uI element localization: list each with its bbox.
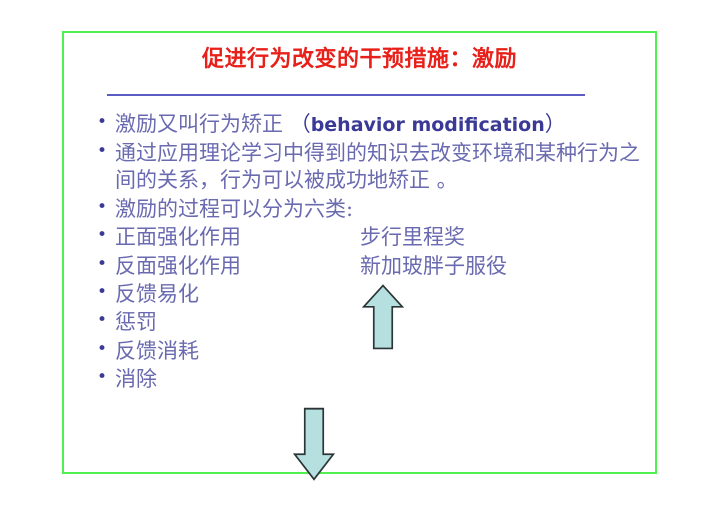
bullet-text-explanation: 通过应用理论学习中得到的知识去改变环境和某种行为之间的关系，行为可以被成功地矫正… [115, 140, 645, 195]
bullet-dot-icon [97, 111, 115, 122]
list-item: 激励的过程可以分为六类: [97, 196, 645, 223]
bullet-dot-icon [97, 196, 115, 207]
bullet-content: 消除 [115, 366, 645, 393]
list-item: 反面强化作用 新加玻胖子服役 [97, 253, 645, 280]
paren-open: （ [290, 112, 311, 136]
list-item: 激励又叫行为矫正 （behavior modification） [97, 111, 645, 139]
bullet-content: 反面强化作用 新加玻胖子服役 [115, 253, 645, 280]
down-arrow-shape [293, 406, 335, 482]
bullet-dot-icon [97, 281, 115, 292]
slide-frame: 促进行为改变的干预措施：激励 激励又叫行为矫正 （behavior modifi… [62, 31, 657, 474]
bullet-content: 激励又叫行为矫正 （behavior modification） [115, 111, 645, 139]
up-arrow-icon [362, 283, 404, 351]
list-item: 正面强化作用 步行里程奖 [97, 224, 645, 251]
up-arrow-shape [362, 283, 404, 351]
bullet-dot-icon [97, 366, 115, 377]
paren-close: ） [545, 112, 566, 136]
bullet-dot-icon [97, 338, 115, 349]
page-title: 促进行为改变的干预措施：激励 [202, 47, 517, 71]
list-item: 消除 [97, 366, 645, 393]
bullet-text-definition: 激励又叫行为矫正 （behavior modification） [115, 111, 645, 139]
example-negative-reinforcement: 新加玻胖子服役 [360, 253, 645, 280]
term-negative-reinforcement: 反面强化作用 [115, 253, 360, 280]
title-divider-rule [107, 94, 585, 96]
definition-en-text: behavior modification [311, 114, 545, 136]
bullet-content: 正面强化作用 步行里程奖 [115, 224, 645, 251]
bullet-list: 激励又叫行为矫正 （behavior modification） 通过应用理论学… [97, 111, 645, 394]
bullet-content: 激励的过程可以分为六类: [115, 196, 645, 223]
bullet-text-six-types: 激励的过程可以分为六类: [115, 196, 645, 223]
example-positive-reinforcement: 步行里程奖 [360, 224, 645, 251]
bullet-dot-icon [97, 224, 115, 235]
bullet-dot-icon [97, 309, 115, 320]
bullet-content: 通过应用理论学习中得到的知识去改变环境和某种行为之间的关系，行为可以被成功地矫正… [115, 140, 645, 195]
list-item: 通过应用理论学习中得到的知识去改变环境和某种行为之间的关系，行为可以被成功地矫正… [97, 140, 645, 195]
title-block: 促进行为改变的干预措施：激励 [64, 47, 655, 71]
bullet-dot-icon [97, 140, 115, 151]
bullet-dot-icon [97, 253, 115, 264]
term-elimination: 消除 [115, 366, 645, 393]
term-positive-reinforcement: 正面强化作用 [115, 224, 360, 251]
down-arrow-icon [293, 406, 335, 482]
definition-cn-text: 激励又叫行为矫正 [115, 112, 290, 136]
